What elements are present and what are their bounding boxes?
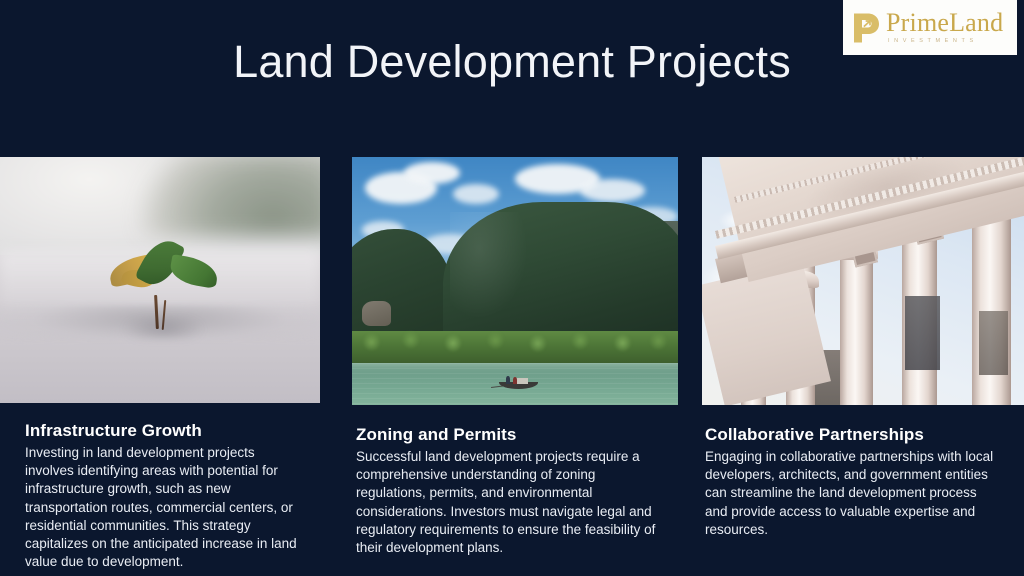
card-body-3: Collaborative Partnerships Engaging in c… <box>702 405 1024 539</box>
photo3-column <box>972 207 1011 405</box>
card-body-2: Zoning and Permits Successful land devel… <box>352 405 678 557</box>
photo2-cloud <box>453 184 499 204</box>
photo2-exposed-cliff-rock <box>362 301 391 326</box>
card-text-2: Successful land development projects req… <box>356 448 666 557</box>
photo2-cloud <box>580 179 645 201</box>
logo-wordmark: PrimeLand <box>886 10 1003 36</box>
card-heading-3: Collaborative Partnerships <box>705 425 994 445</box>
card-zoning-and-permits: Zoning and Permits Successful land devel… <box>352 157 678 557</box>
seedling-in-sand-photo <box>0 157 320 403</box>
card-text-3: Engaging in collaborative partnerships w… <box>705 448 994 539</box>
card-body-1: Infrastructure Growth Investing in land … <box>0 403 320 571</box>
neoclassical-government-building-photo <box>702 157 1024 405</box>
card-heading-1: Infrastructure Growth <box>25 421 304 441</box>
card-heading-2: Zoning and Permits <box>356 425 666 445</box>
page-title: Land Development Projects <box>0 36 1024 88</box>
photo3-recessed-shadow <box>905 296 940 370</box>
card-infrastructure-growth: Infrastructure Growth Investing in land … <box>0 157 320 571</box>
photo2-mangrove-texture <box>352 331 678 353</box>
photo2-boat-passenger <box>506 376 510 384</box>
photo2-karst-highlight <box>450 212 548 336</box>
photo2-boat-passenger <box>513 377 517 384</box>
slide-canvas: PrimeLand Investments Land Development P… <box>0 0 1024 576</box>
card-text-1: Investing in land development projects i… <box>25 444 304 571</box>
card-collaborative-partnerships: Collaborative Partnerships Engaging in c… <box>702 157 1024 539</box>
photo2-cloud <box>404 162 459 184</box>
photo3-recessed-shadow <box>979 311 1008 375</box>
photo1-background-hill <box>134 157 320 236</box>
karst-bay-boat-photo <box>352 157 678 405</box>
